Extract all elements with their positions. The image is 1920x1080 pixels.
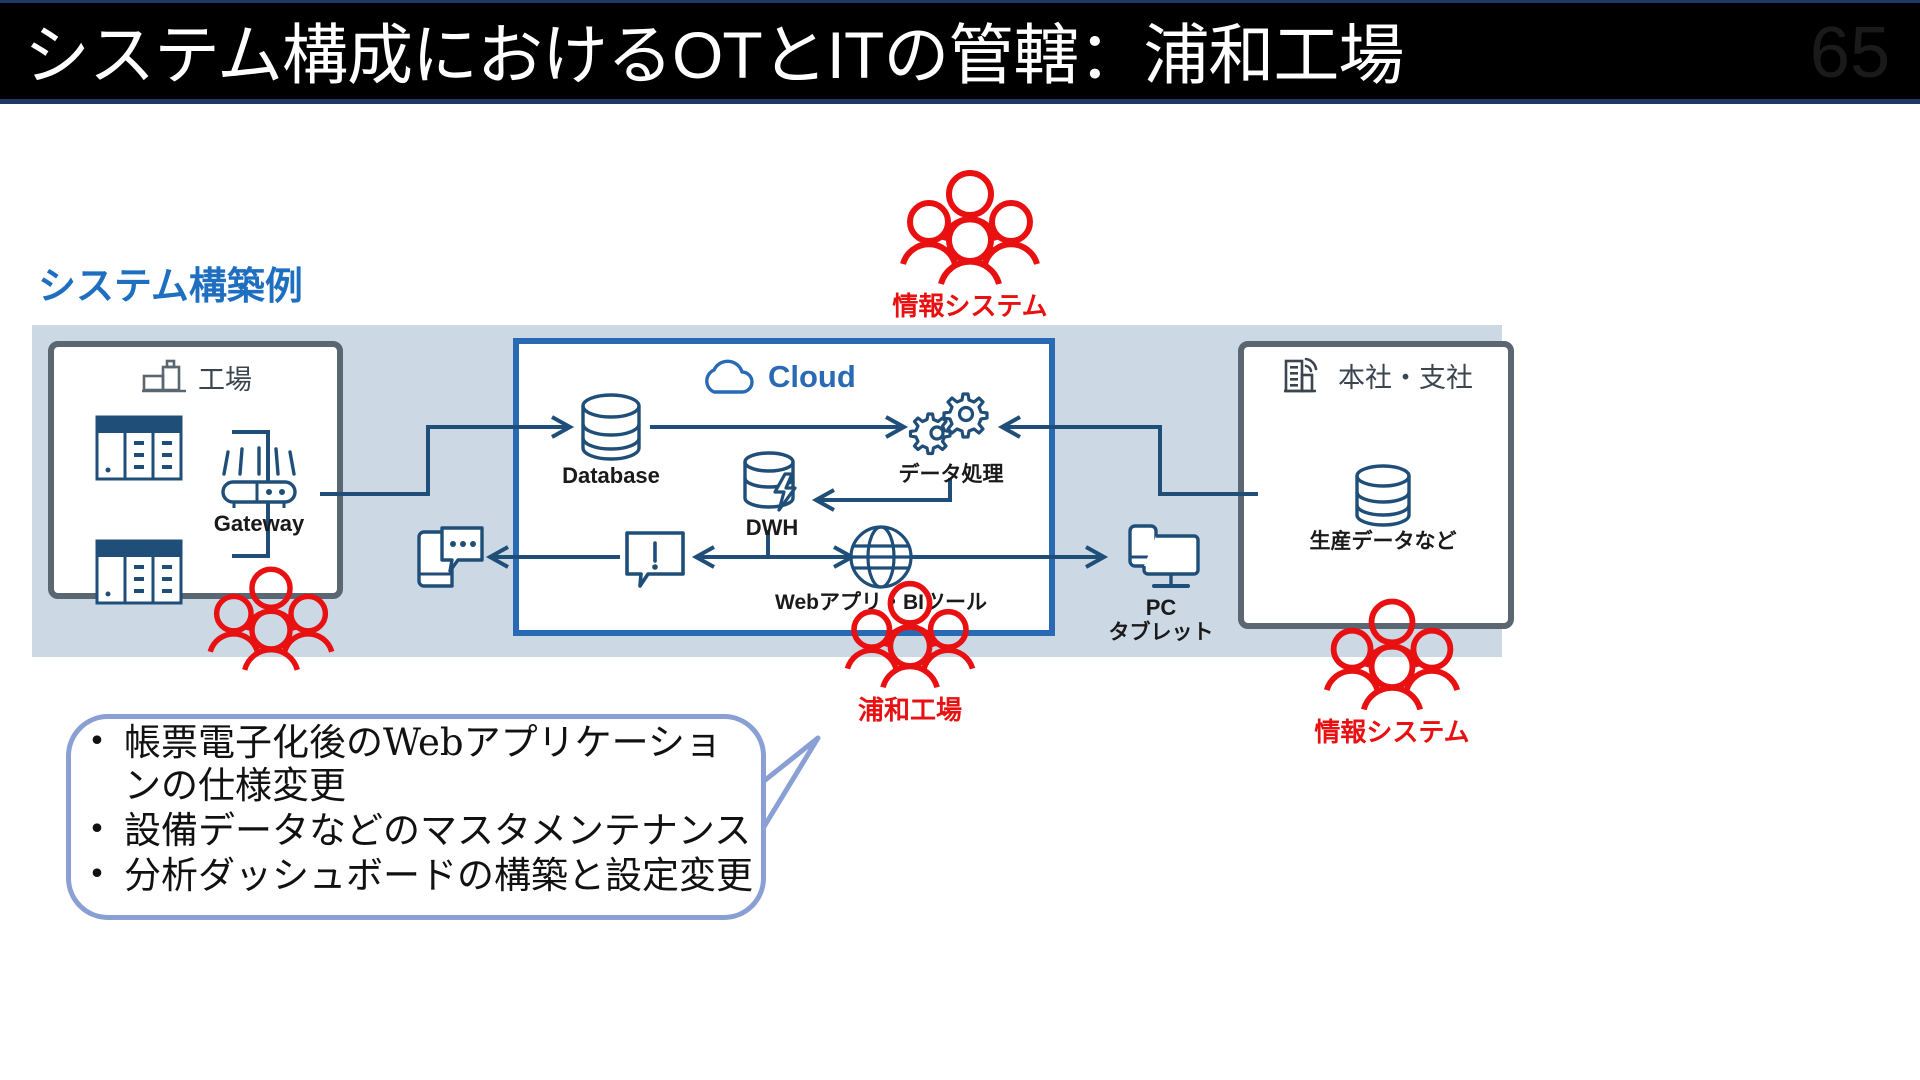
callout-bullet-item: • 設備データなどのマスタメンテナンス [86,810,756,853]
callout-bullet-list: • 帳票電子化後のWebアプリケーションの仕様変更 • 設備データなどのマスタメ… [86,722,756,900]
callout-bullet-item: • 分析ダッシュボードの構築と設定変更 [86,855,756,898]
callout-bullet-text: 帳票電子化後のWebアプリケーションの仕様変更 [124,722,756,808]
bullet-marker: • [86,722,108,763]
callout-bullet-text: 設備データなどのマスタメンテナンス [124,810,756,853]
bullet-marker: • [86,810,108,851]
callout-bullet-text: 分析ダッシュボードの構築と設定変更 [124,855,756,898]
callout-bullet-item: • 帳票電子化後のWebアプリケーションの仕様変更 [86,722,756,808]
bullet-marker: • [86,855,108,896]
